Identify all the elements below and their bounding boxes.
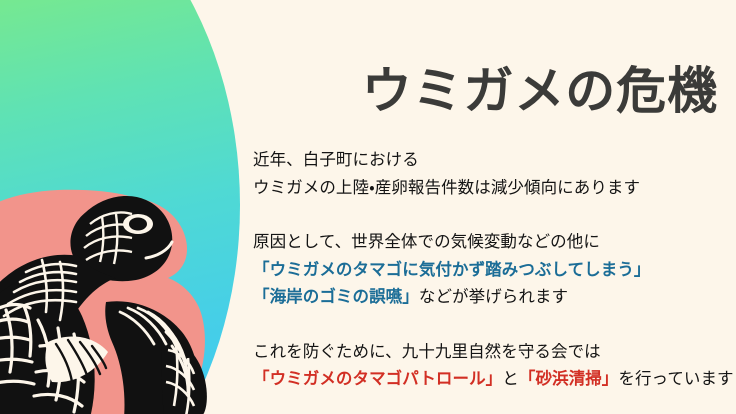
body-text: と [502,369,519,388]
body-paragraph: これを防ぐために、九十九里自然を守る会では「ウミガメのタマゴパトロール」と「砂浜… [253,338,723,393]
sea-turtle-illustration [0,186,248,414]
body-text: ウミガメの上陸・産卵報告件数は減少傾向にあります [253,178,640,197]
quote-bracket-red: 「 [253,369,270,388]
highlight-red-text: 砂浜清掃 [535,369,601,388]
highlight-red-text: ウミガメのタマゴパトロール [270,369,486,388]
quote-bracket-blue: 「 [253,287,270,306]
body-text: などが挙げられます [419,287,568,306]
body-line: 「海岸のゴミの誤嚥」などが挙げられます [253,283,723,311]
quote-bracket-red: 「 [519,369,536,388]
body-text: 近年、白子町における [253,150,419,169]
body-line: これを防ぐために、九十九里自然を守る会では [253,338,723,366]
quote-bracket-blue: 」 [634,260,651,279]
quote-bracket-blue: 」 [402,287,419,306]
body-copy: 近年、白子町におけるウミガメの上陸・産卵報告件数は減少傾向にあります原因として、… [253,146,723,393]
highlight-blue-text: 海岸のゴミの誤嚥 [270,287,403,306]
slide-canvas: ウミガメの危機 近年、白子町におけるウミガメの上陸・産卵報告件数は減少傾向にあり… [0,0,736,414]
quote-bracket-red: 」 [486,369,503,388]
body-line: 「ウミガメのタマゴパトロール」と「砂浜清掃」を行っています [253,365,723,393]
body-line: ウミガメの上陸・産卵報告件数は減少傾向にあります [253,174,723,202]
turtle-eye [123,214,153,234]
page-title: ウミガメの危機 [0,62,718,120]
body-line: 原因として、世界全体での気候変動などの他に [253,228,723,256]
highlight-blue-text: ウミガメのタマゴに気付かず踏みつぶしてしまう [270,260,634,279]
body-line: 近年、白子町における [253,146,723,174]
quote-bracket-red: 」 [602,369,619,388]
body-line: 「ウミガメのタマゴに気付かず踏みつぶしてしまう」 [253,256,723,284]
body-text: を行っています [618,369,733,388]
body-text: 原因として、世界全体での気候変動などの他に [253,232,600,251]
body-paragraph: 近年、白子町におけるウミガメの上陸・産卵報告件数は減少傾向にあります [253,146,723,201]
quote-bracket-blue: 「 [253,260,270,279]
body-text: これを防ぐために、九十九里自然を守る会では [253,342,601,361]
body-paragraph: 原因として、世界全体での気候変動などの他に「ウミガメのタマゴに気付かず踏みつぶし… [253,228,723,311]
